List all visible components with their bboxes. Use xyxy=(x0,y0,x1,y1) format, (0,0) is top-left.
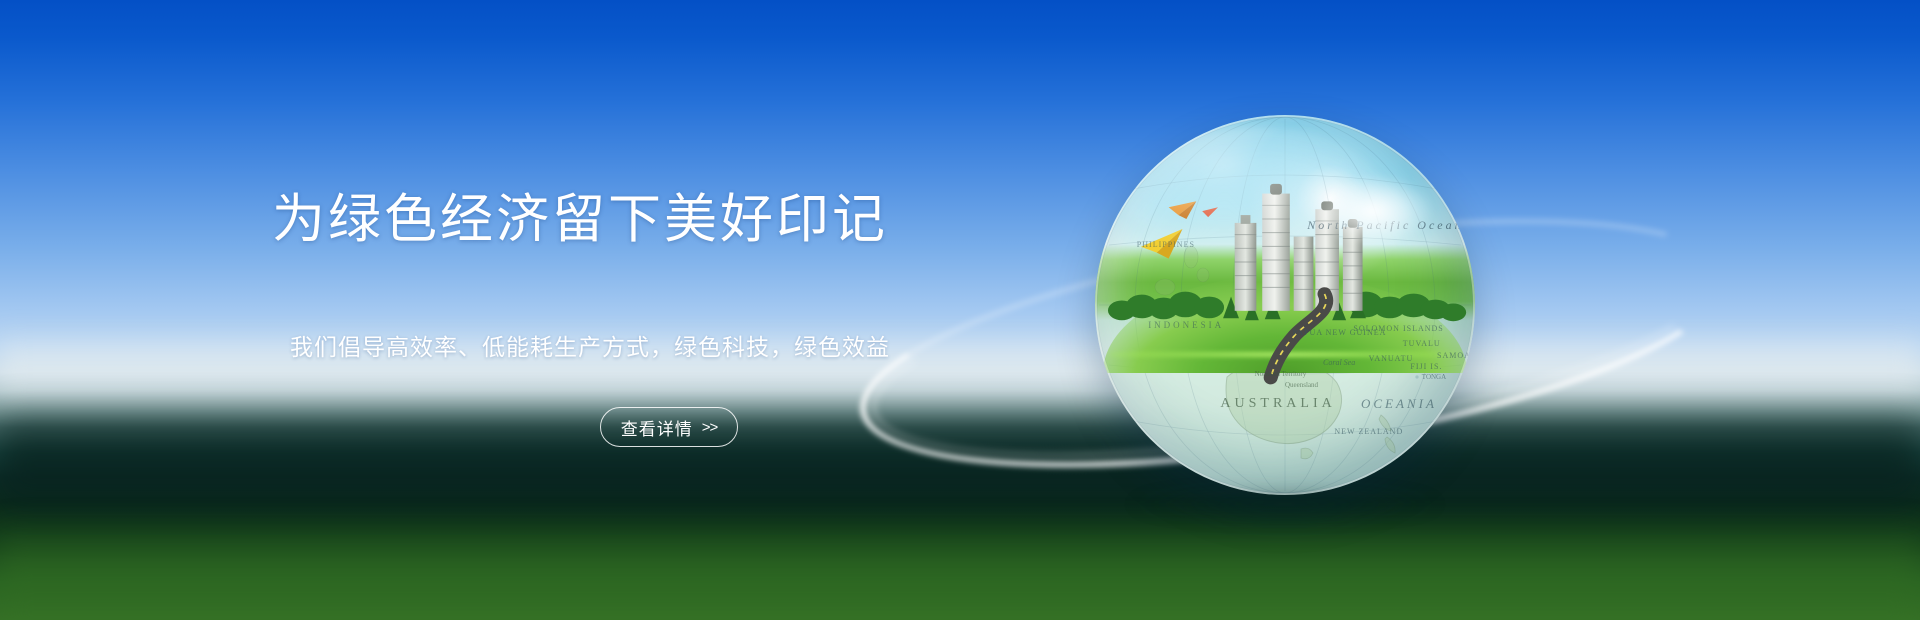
globe-sphere: North Pacific Ocean AUSTRALIA OCEANIA NE… xyxy=(1095,115,1475,495)
view-details-label: 查看详情 xyxy=(621,415,693,440)
banner-copy: 为绿色经济留下美好印记 我们倡导高效率、低能耗生产方式，绿色科技，绿色效益 查看… xyxy=(0,0,1080,620)
chevron-right-icon: >> xyxy=(702,419,718,436)
eco-globe: North Pacific Ocean AUSTRALIA OCEANIA NE… xyxy=(1095,115,1475,495)
globe-drop-shadow xyxy=(1125,487,1444,521)
view-details-button[interactable]: 查看详情 >> xyxy=(600,407,738,447)
glass-rim xyxy=(1095,115,1475,495)
hero-banner: North Pacific Ocean AUSTRALIA OCEANIA NE… xyxy=(0,0,1920,620)
page-title: 为绿色经济留下美好印记 xyxy=(272,188,888,252)
page-subtitle: 我们倡导高效率、低能耗生产方式，绿色科技，绿色效益 xyxy=(290,328,890,362)
